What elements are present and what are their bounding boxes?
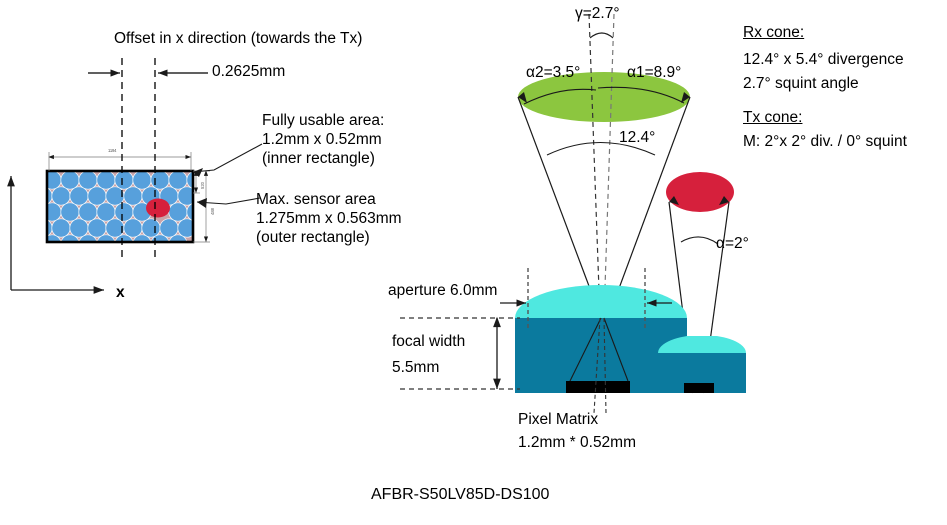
offset-title: Offset in x direction (towards the Tx) (114, 29, 362, 48)
alpha2-angle-label: α2=3.5° (526, 63, 580, 82)
tx-alpha-angle-label: α=2° (716, 234, 749, 253)
diagram-page: Offset in x direction (towards the Tx) 0… (0, 0, 947, 525)
callout-leaders (193, 144, 262, 204)
sensor-array (34, 171, 205, 253)
tx-device-cross-section (658, 335, 746, 393)
alpha1-angle-label: α1=8.9° (627, 63, 681, 82)
reference-pixel (146, 199, 170, 218)
sensor-inner-height-micro-label: 520 (200, 182, 205, 189)
aperture-label: aperture 6.0mm (388, 281, 497, 300)
fully-usable-area-line-2: 1.2mm x 0.52mm (262, 130, 382, 149)
sensor-width-micro-label: 1194 (108, 148, 116, 153)
rx-cone (518, 14, 690, 318)
rx-cone-line-2: 2.7° squint angle (743, 74, 859, 93)
rx-pixel-matrix (566, 381, 630, 393)
x-axis-label: x (116, 283, 125, 302)
fully-usable-area-line-3: (inner rectangle) (262, 149, 375, 168)
tx-emitter (684, 383, 714, 393)
tx-cone-footprint (666, 172, 734, 212)
document-caption: AFBR-S50LV85D-DS100 (371, 486, 549, 504)
max-sensor-area-line-2: 1.275mm x 0.563mm (256, 209, 402, 228)
fully-usable-area-line-1: Fully usable area: (262, 111, 384, 130)
rx-divergence-label: 12.4° (619, 128, 655, 147)
tx-cone-line-1: M: 2°x 2° div. / 0° squint (743, 132, 907, 151)
rx-cone-heading: Rx cone: (743, 23, 804, 42)
offset-value-label: 0.2625mm (212, 62, 285, 81)
rx-cone-line-1: 12.4° x 5.4° divergence (743, 50, 904, 69)
pixel-matrix-label-line-1: Pixel Matrix (518, 410, 598, 429)
pixel-matrix-label-line-2: 1.2mm * 0.52mm (518, 433, 636, 452)
focal-width-label-line-2: 5.5mm (392, 358, 439, 377)
max-sensor-area-line-3: (outer rectangle) (256, 228, 370, 247)
max-sensor-area-line-1: Max. sensor area (256, 190, 376, 209)
tx-cone-heading: Tx cone: (743, 108, 802, 127)
gamma-angle-label: γ=2.7° (575, 4, 620, 23)
focal-width-label-line-1: focal width (392, 332, 465, 351)
sensor-outer-height-micro-label: 488 (210, 208, 215, 215)
